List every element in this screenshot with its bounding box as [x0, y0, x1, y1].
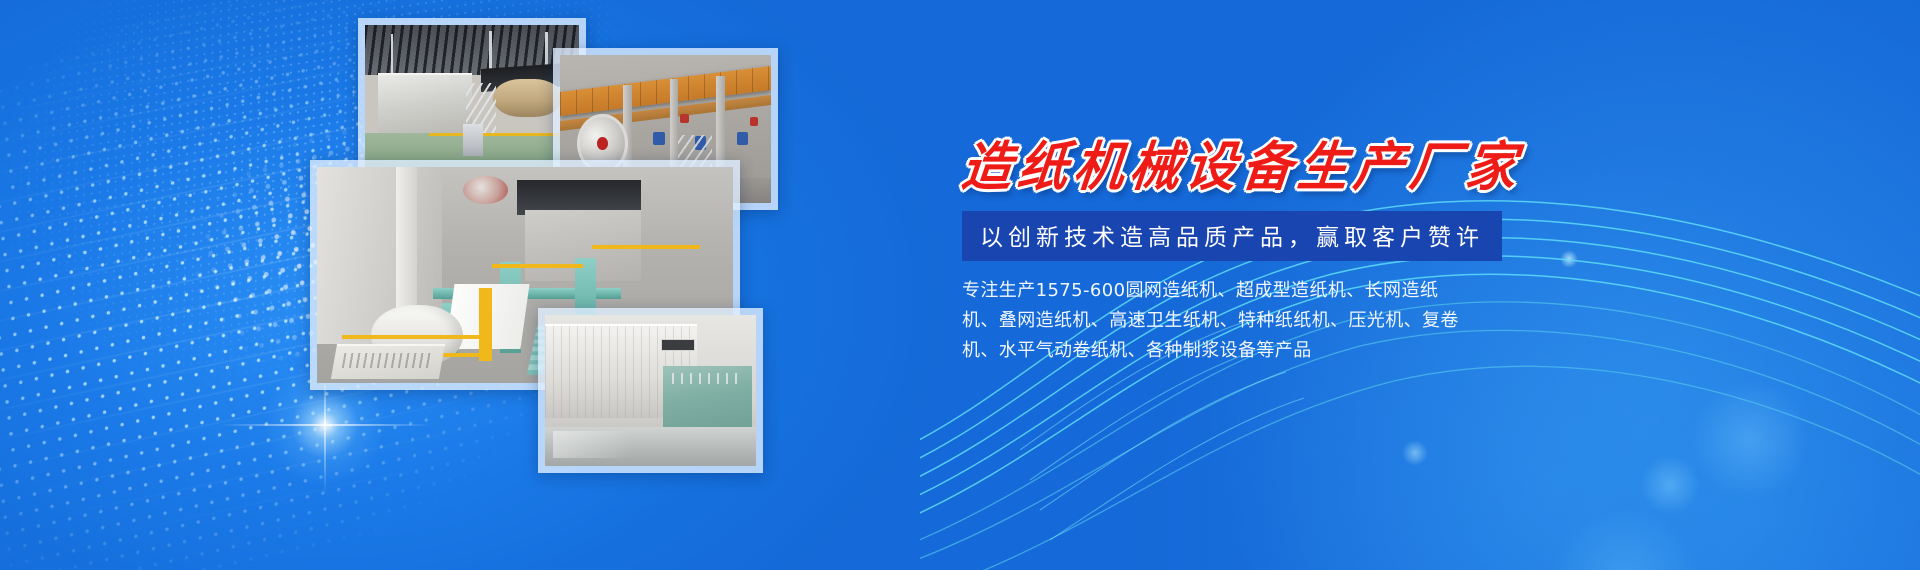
promo-banner: 造纸机械设备生产厂家 以创新技术造高品质产品，赢取客户赞许 专注生产1575-6… [0, 0, 1920, 570]
photo-paper-machine-hall [358, 18, 586, 178]
banner-subtitle: 以创新技术造高品质产品，赢取客户赞许 [980, 225, 1484, 251]
banner-description: 专注生产1575-600圆网造纸机、超成型造纸机、长网造纸机、叠网造纸机、高速卫… [962, 276, 1462, 366]
banner-subtitle-bar: 以创新技术造高品质产品，赢取客户赞许 [962, 211, 1502, 261]
banner-text-block: 造纸机械设备生产厂家 以创新技术造高品质产品，赢取客户赞许 专注生产1575-6… [962, 140, 1602, 366]
photo-dryer-hood-line [538, 308, 763, 473]
banner-headline: 造纸机械设备生产厂家 [959, 138, 1605, 196]
